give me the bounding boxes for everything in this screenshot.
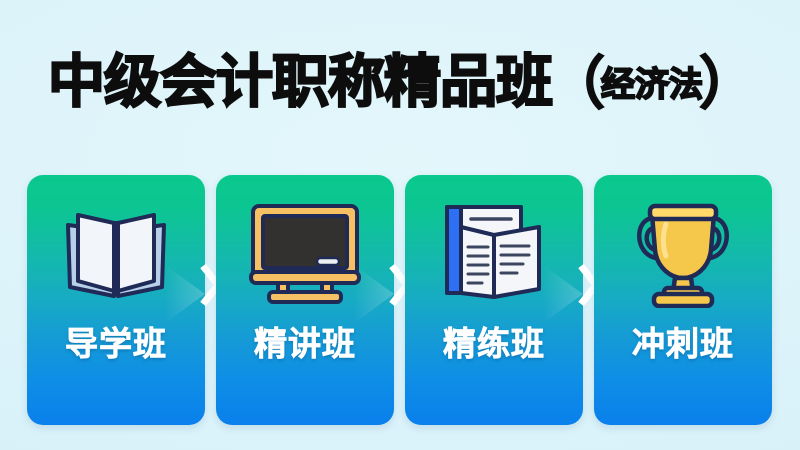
course-promo-poster: 中级会计职称精品班 （ 经济法 ） [0,0,800,450]
course-step-card-daoxueban[interactable]: 导学班 [27,175,205,425]
page-title: 中级会计职称精品班 （ 经济法 ） [0,46,800,118]
course-step-label: 冲刺班 [632,327,734,360]
course-step-card-jingjiangban[interactable]: 精讲班 [216,175,394,425]
notebook-icon [405,175,583,327]
course-step-card-jinglianban[interactable]: 精练班 [405,175,583,425]
open-book-icon-svg [60,203,172,303]
course-step-card-chongciban[interactable]: 冲刺班 [594,175,772,425]
title-paren-close: ） [699,56,756,113]
trophy-icon [594,175,772,327]
course-step-label: 导学班 [65,327,167,360]
title-paren-open: （ [548,56,605,113]
trophy-icon-svg [628,198,738,308]
step-arrow-1 [205,175,216,425]
course-step-label: 精讲班 [254,327,356,360]
title-subject-text: 经济法 [601,68,703,102]
open-book-icon [27,175,205,327]
course-step-list: 导学班 [27,175,773,425]
blackboard-icon [216,175,394,327]
notebook-icon-svg [435,201,553,305]
course-step-label: 精练班 [443,327,545,360]
step-arrow-2 [394,175,405,425]
title-main-text: 中级会计职称精品班 [48,54,552,111]
blackboard-icon-svg [245,202,365,304]
step-arrow-3 [583,175,594,425]
